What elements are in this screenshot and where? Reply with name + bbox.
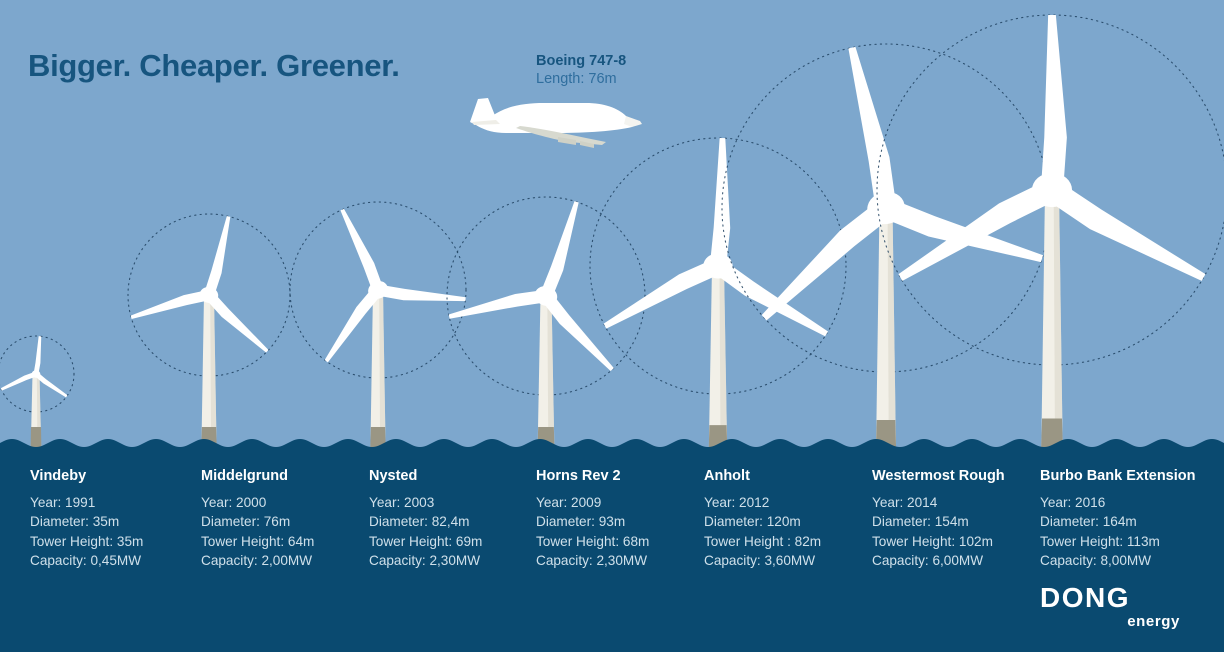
site-diameter: Diameter: 120m <box>704 512 821 531</box>
plane-caption: Boeing 747-8 Length: 76m <box>536 52 626 89</box>
site-tower-height: Tower Height: 113m <box>1040 532 1196 551</box>
site-name: Nysted <box>369 468 482 485</box>
site-name: Burbo Bank Extension <box>1040 468 1196 485</box>
site-capacity: Capacity: 2,30MW <box>536 551 649 570</box>
plane-length: Length: 76m <box>536 70 626 89</box>
site-tower-height: Tower Height: 64m <box>201 532 314 551</box>
site-capacity: Capacity: 2,30MW <box>369 551 482 570</box>
site-name: Middelgrund <box>201 468 314 485</box>
site-year: Year: 2009 <box>536 493 649 512</box>
site-diameter: Diameter: 164m <box>1040 512 1196 531</box>
site-capacity: Capacity: 6,00MW <box>872 551 1005 570</box>
plane-name: Boeing 747-8 <box>536 52 626 70</box>
site-name: Westermost Rough <box>872 468 1005 485</box>
site-capacity: Capacity: 3,60MW <box>704 551 821 570</box>
site-capacity: Capacity: 0,45MW <box>30 551 143 570</box>
site-tower-height: Tower Height: 69m <box>369 532 482 551</box>
site-label-6: Westermost RoughYear: 2014Diameter: 154m… <box>872 468 1005 571</box>
site-year: Year: 2012 <box>704 493 821 512</box>
dong-energy-logo: DONG energy <box>1040 583 1186 630</box>
site-label-2: MiddelgrundYear: 2000Diameter: 76mTower … <box>201 468 314 571</box>
site-name: Horns Rev 2 <box>536 468 649 485</box>
site-year: Year: 2016 <box>1040 493 1196 512</box>
site-year: Year: 1991 <box>30 493 143 512</box>
page-title: Bigger. Cheaper. Greener. <box>28 48 400 84</box>
site-diameter: Diameter: 35m <box>30 512 143 531</box>
site-label-3: NystedYear: 2003Diameter: 82,4mTower Hei… <box>369 468 482 571</box>
site-year: Year: 2003 <box>369 493 482 512</box>
site-name: Anholt <box>704 468 821 485</box>
site-name: Vindeby <box>30 468 143 485</box>
logo-wordmark: DONG <box>1040 583 1186 613</box>
site-tower-height: Tower Height: 102m <box>872 532 1005 551</box>
site-tower-height: Tower Height: 35m <box>30 532 143 551</box>
logo-tagline: energy <box>1040 613 1186 630</box>
site-year: Year: 2000 <box>201 493 314 512</box>
site-capacity: Capacity: 8,00MW <box>1040 551 1196 570</box>
site-label-7: Burbo Bank ExtensionYear: 2016Diameter: … <box>1040 468 1196 571</box>
site-year: Year: 2014 <box>872 493 1005 512</box>
site-tower-height: Tower Height : 82m <box>704 532 821 551</box>
site-diameter: Diameter: 82,4m <box>369 512 482 531</box>
site-capacity: Capacity: 2,00MW <box>201 551 314 570</box>
site-label-4: Horns Rev 2Year: 2009Diameter: 93mTower … <box>536 468 649 571</box>
site-diameter: Diameter: 93m <box>536 512 649 531</box>
infographic-root: Bigger. Cheaper. Greener. Boeing 747-8 L… <box>0 0 1224 652</box>
rotor-hub <box>1032 173 1072 207</box>
site-label-5: AnholtYear: 2012Diameter: 120mTower Heig… <box>704 468 821 571</box>
site-diameter: Diameter: 76m <box>201 512 314 531</box>
site-label-1: VindebyYear: 1991Diameter: 35mTower Heig… <box>30 468 143 571</box>
site-diameter: Diameter: 154m <box>872 512 1005 531</box>
site-tower-height: Tower Height: 68m <box>536 532 649 551</box>
